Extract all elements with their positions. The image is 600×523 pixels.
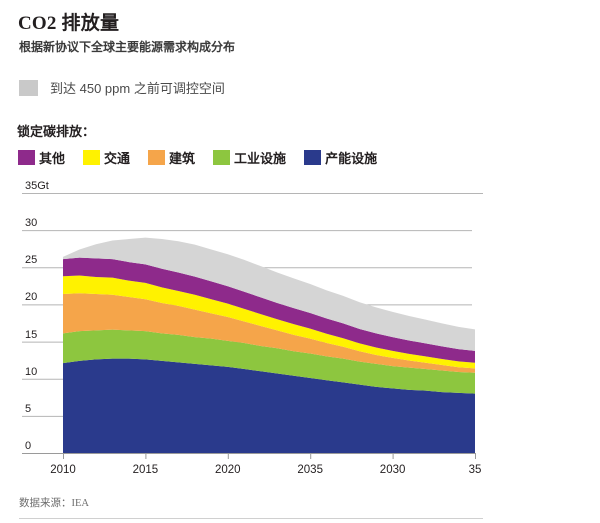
bottom-divider xyxy=(19,518,483,519)
y-axis-label: 20 xyxy=(25,291,37,303)
y-axis-label: 0 xyxy=(25,440,31,452)
x-axis-label: 2020 xyxy=(198,464,258,476)
y-axis-label: 15 xyxy=(25,329,37,341)
chart-svg xyxy=(0,0,600,523)
x-axis-label: 2030 xyxy=(363,464,423,476)
x-axis-label: 2015 xyxy=(115,464,175,476)
area-chart: 05101520253035Gt2010201520202035203035 xyxy=(0,0,600,523)
x-axis-label: 35 xyxy=(445,464,505,476)
y-axis-label: 10 xyxy=(25,366,37,378)
y-axis-label: 30 xyxy=(25,217,37,229)
y-axis-label: 5 xyxy=(25,403,31,415)
source-note: 数据来源：IEA xyxy=(19,495,89,510)
chart-page: CO2 排放量 根据新协议下全球主要能源需求构成分布 到达 450 ppm 之前… xyxy=(0,0,600,523)
y-axis-label: 25 xyxy=(25,254,37,266)
x-axis-label: 2010 xyxy=(33,464,93,476)
y-axis-label: 35Gt xyxy=(25,180,49,192)
x-axis-label: 2035 xyxy=(280,464,340,476)
